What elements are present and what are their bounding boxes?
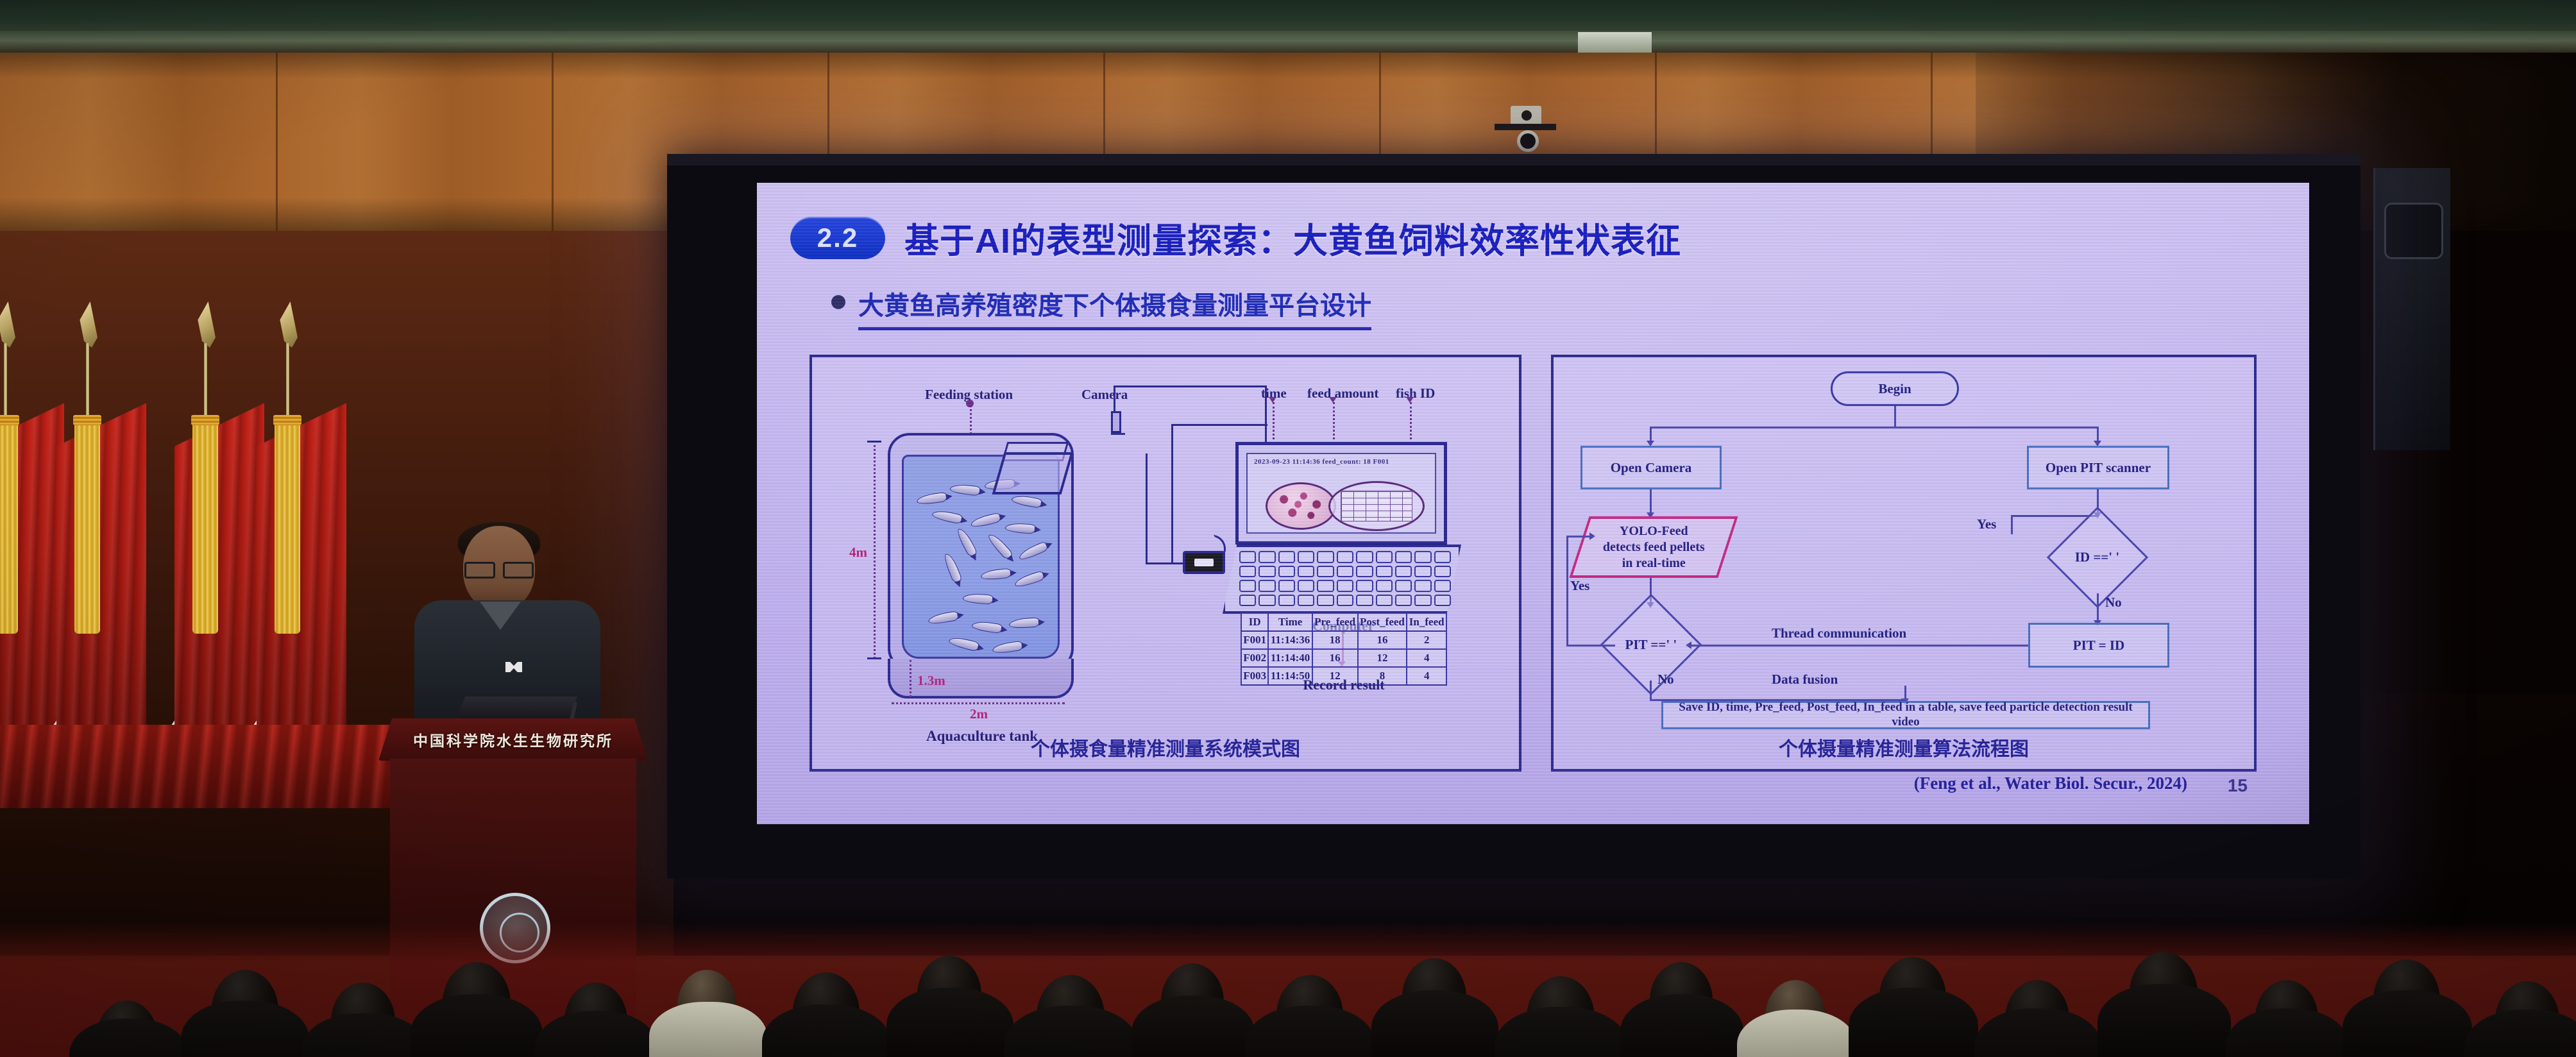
slide-title: 基于AI的表型测量探索：大黄鱼饲料效率性状表征: [904, 212, 1681, 263]
label-tank-width: 2m: [970, 706, 988, 722]
flag-finial-icon: [0, 301, 15, 348]
flag-tassel-icon: [192, 421, 218, 634]
ceiling-band: [0, 0, 2576, 32]
flow-node-open-camera: Open Camera: [1580, 446, 1722, 489]
feeding-station-body: [992, 452, 1074, 495]
audience: [0, 852, 2576, 1057]
flow-edge-yes-pit: Yes: [1570, 578, 1589, 594]
figure-algorithm-flowchart: Begin Open Camera Open PIT scanner: [1551, 355, 2257, 772]
flow-node-yolo-feed: YOLO-Feeddetects feed pelletsin real-tim…: [1569, 516, 1738, 578]
th-pre-feed: Pre_feed: [1312, 613, 1358, 631]
flow-edge-thread-communication: Thread communication: [1772, 625, 1906, 641]
bullet-dot-icon: [831, 295, 845, 309]
flow-node-save-step: Save ID, time, Pre_feed, Post_feed, In_f…: [1661, 701, 2150, 729]
flow-edge-no-pit: No: [1657, 672, 1674, 688]
flag-tassel-icon: [0, 421, 18, 634]
th-id: ID: [1241, 613, 1268, 631]
th-post-feed: Post_feed: [1358, 613, 1407, 631]
ceiling-trim: [0, 31, 2576, 55]
section-badge: 2.2: [790, 217, 885, 259]
record-result-table: ID Time Pre_feed Post_feed In_feed: [1241, 613, 1447, 686]
ceiling-camera-lens-icon: [1517, 130, 1539, 152]
flow-node-begin: Begin: [1831, 371, 1959, 406]
flow-node-open-pit-scanner: Open PIT scanner: [2027, 446, 2169, 489]
flow-edge-yes-id: Yes: [1977, 516, 1996, 532]
flag-tassel-icon: [74, 421, 100, 634]
projection-screen-frame: 2.2 基于AI的表型测量探索：大黄鱼饲料效率性状表征 大黄鱼高养殖密度下个体摄…: [667, 154, 2360, 879]
bullet-label: 大黄鱼高养殖密度下个体摄食量测量平台设计: [858, 285, 1371, 330]
ceiling-camera-icon: [1511, 106, 1541, 125]
flag-tassel-icon: [275, 421, 300, 634]
table-row: F002 11:14:40 16 12 4: [1241, 649, 1446, 667]
camera-icon: [1111, 411, 1121, 433]
label-tank-depth: 1.3m: [917, 673, 945, 689]
computer-status-line: 2023-09-23 11:14:36 feed_count: 18 F001: [1254, 458, 1428, 466]
projected-slide: 2.2 基于AI的表型测量探索：大黄鱼饲料效率性状表征 大黄鱼高养殖密度下个体摄…: [757, 183, 2309, 824]
ceiling-camera-mount: [1495, 124, 1556, 130]
aquaculture-tank-base: [888, 659, 1074, 698]
record-table-view: [1328, 481, 1425, 531]
label-fish-id: fish ID: [1396, 385, 1435, 402]
flow-edge-data-fusion: Data fusion: [1772, 672, 1838, 688]
flow-node-pit-equals-id: PIT = ID: [2028, 623, 2169, 668]
flag-finial-icon: [196, 301, 216, 348]
auditorium-photo: 2.2 基于AI的表型测量探索：大黄鱼饲料效率性状表征 大黄鱼高养殖密度下个体摄…: [0, 0, 2576, 1057]
figure-caption-left: 个体摄食量精准测量系统模式图: [812, 733, 1519, 761]
flag-display: [0, 301, 423, 763]
feed-pellet-detection-view: [1266, 482, 1336, 530]
slide-citation: (Feng et al., Water Biol. Secur., 2024): [1914, 774, 2187, 793]
slide-page-number: 15: [2228, 775, 2248, 796]
flag-finial-icon: [78, 301, 97, 348]
institute-name: 中国科学院水生生物研究所: [378, 729, 648, 750]
label-feed-amount: feed amount: [1307, 385, 1378, 402]
glasses-icon: [464, 562, 534, 575]
th-in-feed: In_feed: [1407, 613, 1446, 631]
slide-header: 2.2 基于AI的表型测量探索：大黄鱼饲料效率性状表征: [790, 212, 2276, 263]
label-tank-height: 4m: [849, 545, 867, 561]
flag-finial-icon: [278, 301, 298, 348]
slide-bullet: 大黄鱼高养殖密度下个体摄食量测量平台设计: [831, 285, 2276, 330]
table-header-row: ID Time Pre_feed Post_feed In_feed: [1241, 613, 1446, 631]
keyboard-keys: [1239, 551, 1451, 606]
wall-loudspeaker: [2373, 168, 2450, 450]
lectern-top: 中国科学院水生生物研究所: [378, 718, 648, 761]
flow-edge-no-id: No: [2105, 595, 2122, 611]
computer-display: 2023-09-23 11:14:36 feed_count: 18 F001: [1235, 442, 1447, 545]
flow-node-yolo-feed-label: YOLO-Feeddetects feed pelletsin real-tim…: [1603, 523, 1705, 571]
label-record-result: Record result: [1241, 677, 1447, 693]
th-time: Time: [1268, 613, 1312, 631]
pit-reader-device: [1183, 551, 1225, 574]
label-camera: Camera: [1081, 387, 1128, 403]
feeding-station-node-icon: [966, 400, 974, 407]
slide-figures: Feeding station Camera: [790, 355, 2276, 772]
figure-system-schematic: Feeding station Camera: [809, 355, 1521, 772]
table-row: F001 11:14:36 18 16 2: [1241, 631, 1446, 649]
figure-caption-right: 个体摄量精准测量算法流程图: [1554, 733, 2254, 761]
